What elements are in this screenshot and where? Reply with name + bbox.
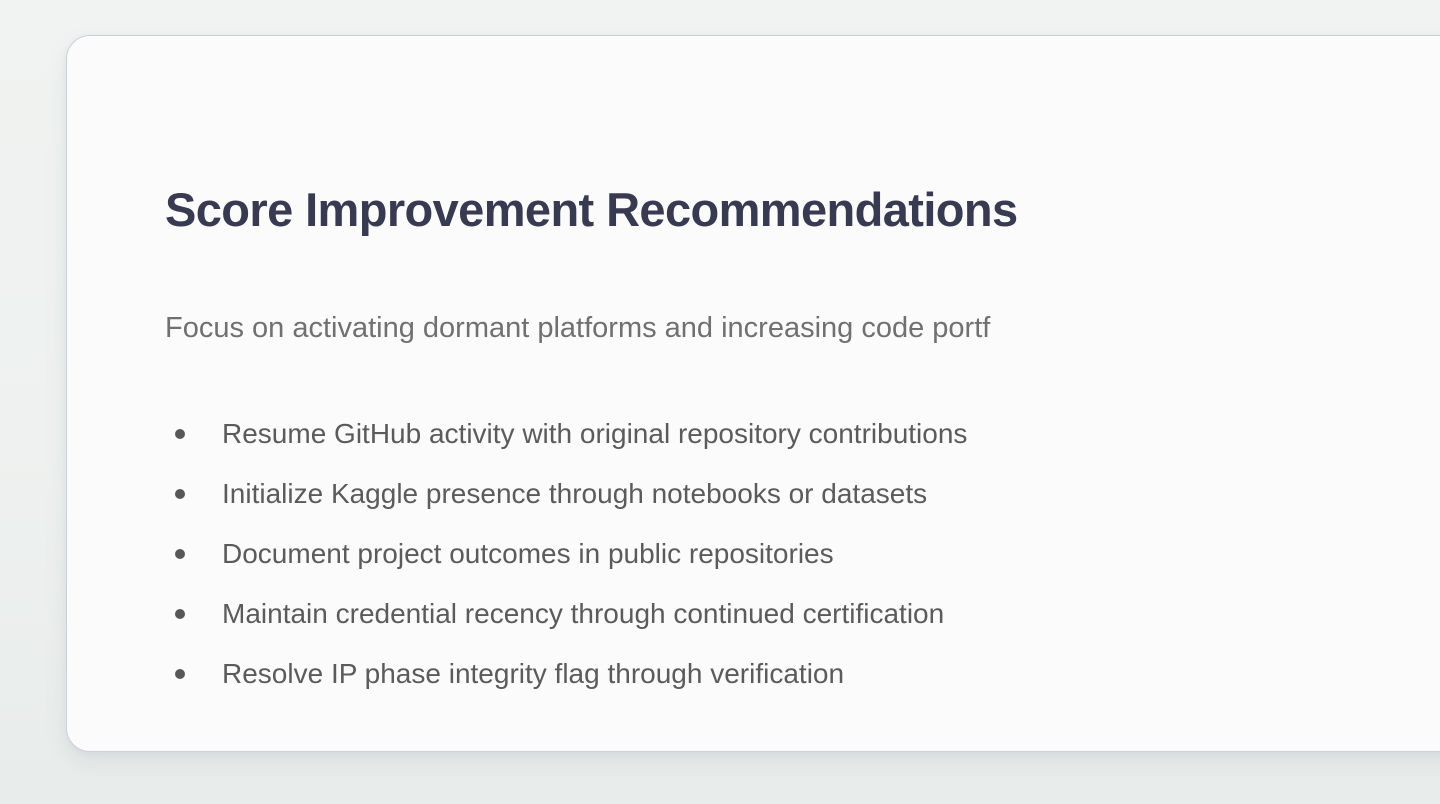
list-item: Maintain credential recency through cont… — [165, 584, 967, 644]
recommendation-text: Maintain credential recency through cont… — [222, 594, 944, 634]
bullet-dot-icon — [175, 669, 185, 679]
score-improvement-recommendations-card: Score Improvement Recommendations Focus … — [66, 35, 1440, 752]
recommendations-list: Resume GitHub activity with original rep… — [165, 404, 967, 704]
page-viewport: Score Improvement Recommendations Focus … — [0, 0, 1440, 804]
recommendation-text: Document project outcomes in public repo… — [222, 534, 834, 574]
page-title: Score Improvement Recommendations — [165, 181, 1018, 239]
recommendation-text: Resume GitHub activity with original rep… — [222, 414, 967, 454]
bullet-dot-icon — [175, 609, 185, 619]
list-item: Document project outcomes in public repo… — [165, 524, 967, 584]
bullet-dot-icon — [175, 549, 185, 559]
list-item: Resume GitHub activity with original rep… — [165, 404, 967, 464]
bullet-dot-icon — [175, 489, 185, 499]
card-body: Score Improvement Recommendations Focus … — [165, 36, 1440, 751]
card-subtitle: Focus on activating dormant platforms an… — [165, 308, 990, 348]
list-item: Initialize Kaggle presence through noteb… — [165, 464, 967, 524]
recommendation-text: Initialize Kaggle presence through noteb… — [222, 474, 927, 514]
list-item: Resolve IP phase integrity flag through … — [165, 644, 967, 704]
bullet-dot-icon — [175, 429, 185, 439]
recommendation-text: Resolve IP phase integrity flag through … — [222, 654, 844, 694]
